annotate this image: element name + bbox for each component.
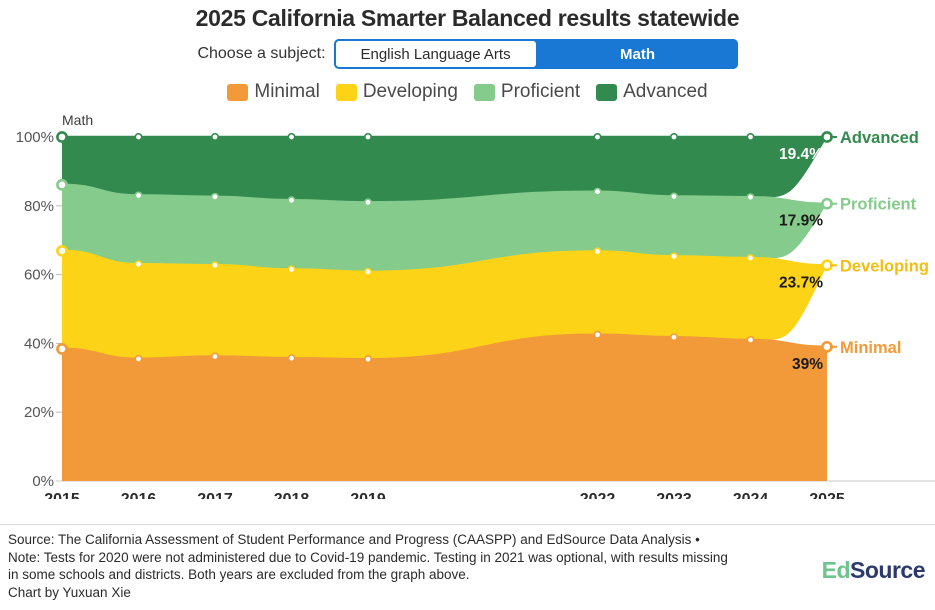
data-point[interactable] [594, 248, 600, 254]
data-point[interactable] [747, 337, 753, 343]
legend-swatch-advanced [596, 84, 617, 101]
x-tick-label: 2025 [809, 491, 845, 499]
x-tick-label: 2018 [274, 491, 310, 499]
footer-line-credit: Chart by Yuxuan Xie [8, 584, 808, 602]
chart-legend: Minimal Developing Proficient Advanced [0, 81, 935, 103]
x-tick-label: 2023 [656, 491, 692, 499]
footer-line-note-2: in some schools and districts. Both year… [8, 566, 808, 584]
logo-text-source: Source [850, 557, 925, 583]
area-series-advanced[interactable] [62, 137, 827, 202]
data-point[interactable] [671, 134, 677, 140]
data-point[interactable] [57, 180, 66, 189]
subject-option-math[interactable]: Math [538, 39, 738, 69]
data-point[interactable] [365, 199, 371, 205]
data-point[interactable] [671, 253, 677, 259]
data-point[interactable] [57, 344, 66, 353]
footer-line-source: Source: The California Assessment of Stu… [8, 531, 808, 549]
logo-text-ed: Ed [822, 557, 850, 583]
page-title: 2025 California Smarter Balanced results… [0, 5, 935, 31]
series-label-proficient: Proficient [840, 196, 917, 214]
data-point[interactable] [212, 194, 218, 200]
value-label-advanced: 19.4% [779, 146, 823, 163]
chart-footer: Source: The California Assessment of Stu… [0, 524, 935, 610]
series-end-labels-group: MinimalDevelopingProficientAdvanced [830, 129, 929, 357]
data-point[interactable] [212, 134, 218, 140]
data-point[interactable] [212, 262, 218, 268]
subject-toggle-group: English Language Arts Math [334, 39, 738, 69]
data-point[interactable] [288, 197, 294, 203]
data-point[interactable] [594, 188, 600, 194]
value-label-proficient: 17.9% [779, 213, 823, 230]
series-label-advanced: Advanced [840, 129, 919, 147]
series-label-developing: Developing [840, 257, 929, 275]
area-series-group [62, 137, 827, 481]
data-point[interactable] [57, 246, 66, 255]
subject-option-ela[interactable]: English Language Arts [334, 39, 538, 69]
footer-note: Source: The California Assessment of Stu… [8, 531, 808, 601]
x-tick-label: 2019 [350, 491, 386, 499]
data-point[interactable] [135, 192, 141, 198]
legend-item-developing[interactable]: Developing [336, 81, 458, 103]
data-point[interactable] [594, 134, 600, 140]
data-point[interactable] [365, 269, 371, 275]
data-point[interactable] [747, 134, 753, 140]
legend-swatch-proficient [474, 84, 495, 101]
stacked-area-chart[interactable]: 0%20%40%60%80%100% 201520162017201820192… [0, 109, 935, 499]
data-point[interactable] [288, 134, 294, 140]
data-point[interactable] [365, 134, 371, 140]
edsource-logo: EdSource [822, 557, 925, 584]
legend-swatch-minimal [227, 84, 248, 101]
data-point[interactable] [212, 353, 218, 359]
x-tick-label: 2015 [44, 491, 80, 499]
data-point[interactable] [57, 132, 66, 141]
x-tick-label: 2024 [733, 491, 769, 499]
x-tick-label: 2022 [580, 491, 616, 499]
subject-chooser: Choose a subject: English Language Arts … [0, 39, 935, 69]
data-point[interactable] [135, 134, 141, 140]
data-point[interactable] [747, 255, 753, 261]
data-point[interactable] [365, 356, 371, 362]
value-label-developing: 23.7% [779, 274, 823, 291]
x-tick-label: 2016 [121, 491, 157, 499]
y-tick-label: 100% [16, 129, 54, 146]
legend-item-minimal[interactable]: Minimal [227, 81, 319, 103]
y-tick-label: 80% [24, 198, 54, 215]
data-point[interactable] [671, 334, 677, 340]
data-point[interactable] [135, 261, 141, 267]
chart-area: Math 0%20%40%60%80%100% 2015201620172018… [0, 109, 935, 499]
legend-label-minimal: Minimal [254, 81, 319, 103]
x-tick-label: 2017 [197, 491, 233, 499]
legend-label-proficient: Proficient [501, 81, 580, 103]
legend-label-advanced: Advanced [623, 81, 708, 103]
y-tick-label: 0% [32, 473, 54, 490]
legend-swatch-developing [336, 84, 357, 101]
footer-line-note-1: Note: Tests for 2020 were not administer… [8, 549, 808, 567]
series-label-minimal: Minimal [840, 339, 901, 357]
data-point[interactable] [671, 193, 677, 199]
data-point[interactable] [288, 355, 294, 361]
x-axis-ticks: 201520162017201820192022202320242025 [44, 491, 845, 499]
legend-item-advanced[interactable]: Advanced [596, 81, 708, 103]
data-point[interactable] [135, 356, 141, 362]
y-tick-label: 40% [24, 335, 54, 352]
data-point[interactable] [594, 332, 600, 338]
legend-item-proficient[interactable]: Proficient [474, 81, 580, 103]
y-tick-label: 60% [24, 267, 54, 284]
legend-label-developing: Developing [363, 81, 458, 103]
data-point[interactable] [288, 266, 294, 272]
subject-chooser-label: Choose a subject: [197, 45, 325, 63]
y-tick-label: 20% [24, 404, 54, 421]
value-label-minimal: 39% [792, 356, 823, 373]
data-point[interactable] [747, 194, 753, 200]
